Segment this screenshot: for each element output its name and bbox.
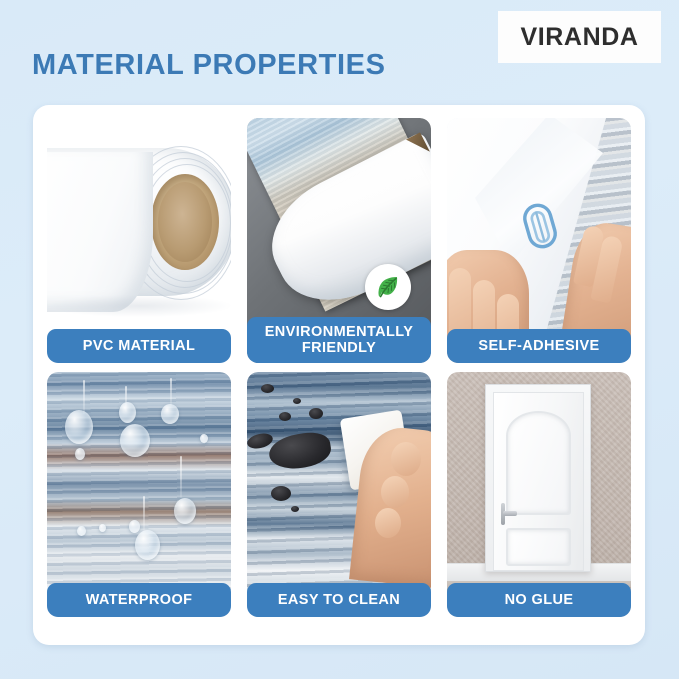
door-photo: [447, 372, 631, 617]
feature-card-environmentally-friendly[interactable]: ENVIRONMENTALLY FRIENDLY: [247, 118, 431, 363]
leaf-badge-icon: [365, 264, 411, 310]
feature-card-self-adhesive[interactable]: SELF-ADHESIVE: [447, 118, 631, 363]
feature-card-pvc-material[interactable]: PVC MATERIAL: [47, 118, 231, 363]
pvc-roll-photo: [47, 118, 231, 363]
waterproof-photo: [47, 372, 231, 617]
card-label-banner: EASY TO CLEAN: [247, 583, 431, 617]
brand-logo: VIRANDA: [498, 11, 661, 63]
card-label-text: PVC MATERIAL: [83, 338, 195, 354]
card-label-banner: SELF-ADHESIVE: [447, 329, 631, 363]
brand-logo-text: VIRANDA: [520, 23, 638, 52]
card-label-text: WATERPROOF: [86, 592, 193, 608]
material-properties-infographic: VIRANDA MATERIAL PROPERTIES PVC MATERIAL: [0, 0, 679, 679]
feature-card-no-glue[interactable]: NO GLUE: [447, 372, 631, 617]
card-label-text: ENVIRONMENTALLY FRIENDLY: [251, 324, 427, 356]
card-label-banner: WATERPROOF: [47, 583, 231, 617]
feature-card-easy-to-clean[interactable]: EASY TO CLEAN: [247, 372, 431, 617]
page-title: MATERIAL PROPERTIES: [32, 49, 386, 82]
feature-card-grid: PVC MATERIAL: [47, 118, 631, 632]
card-label-banner: ENVIRONMENTALLY FRIENDLY: [247, 317, 431, 363]
card-label-banner: PVC MATERIAL: [47, 329, 231, 363]
feature-card-waterproof[interactable]: WATERPROOF: [47, 372, 231, 617]
card-label-text: EASY TO CLEAN: [278, 592, 400, 608]
card-label-text: SELF-ADHESIVE: [478, 338, 599, 354]
card-label-banner: NO GLUE: [447, 583, 631, 617]
easy-to-clean-photo: [247, 372, 431, 617]
card-label-text: NO GLUE: [505, 592, 574, 608]
self-adhesive-photo: [447, 118, 631, 363]
